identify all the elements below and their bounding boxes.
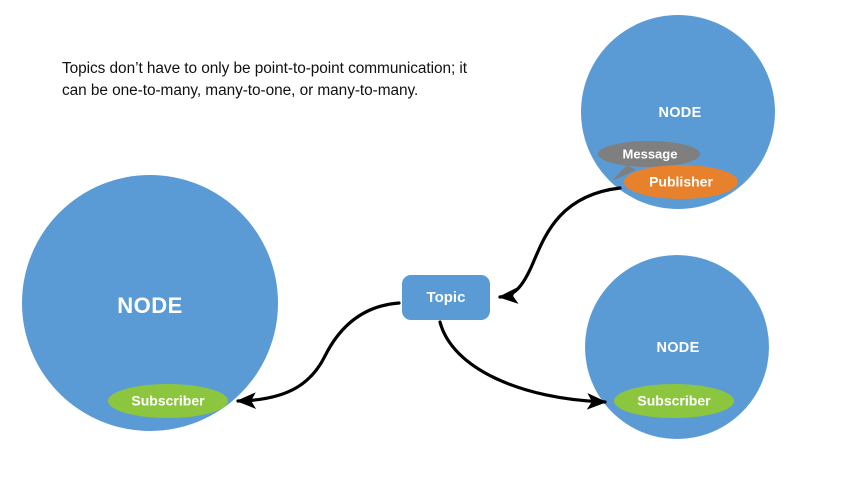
slide-canvas: Topics don’t have to only be point-to-po… — [0, 0, 854, 480]
node-bottom-right-label: NODE — [656, 340, 699, 356]
connector-topic-to-right-subscriber — [440, 322, 605, 402]
node-left[interactable]: NODE Subscriber — [22, 175, 278, 431]
subscriber-label: Subscriber — [131, 393, 205, 409]
node-left-label: NODE — [117, 293, 183, 318]
connector-publisher-to-topic — [500, 188, 620, 297]
subscriber-label: Subscriber — [637, 393, 711, 409]
node-left-subscriber-pill[interactable]: Subscriber — [108, 384, 228, 418]
topic-box[interactable]: Topic — [402, 275, 490, 320]
node-bottom-right-subscriber-pill[interactable]: Subscriber — [614, 384, 734, 418]
node-top-right-label: NODE — [658, 105, 701, 121]
topic-label: Topic — [427, 289, 466, 306]
node-top-right[interactable]: NODE Message Publisher — [581, 15, 775, 209]
topics-diagram: NODE Subscriber NODE Message Publisher — [0, 0, 854, 480]
node-top-right-publisher-pill[interactable]: Publisher — [624, 165, 738, 199]
publisher-label: Publisher — [649, 174, 713, 190]
message-label: Message — [623, 146, 678, 161]
node-bottom-right[interactable]: NODE Subscriber — [585, 255, 769, 439]
